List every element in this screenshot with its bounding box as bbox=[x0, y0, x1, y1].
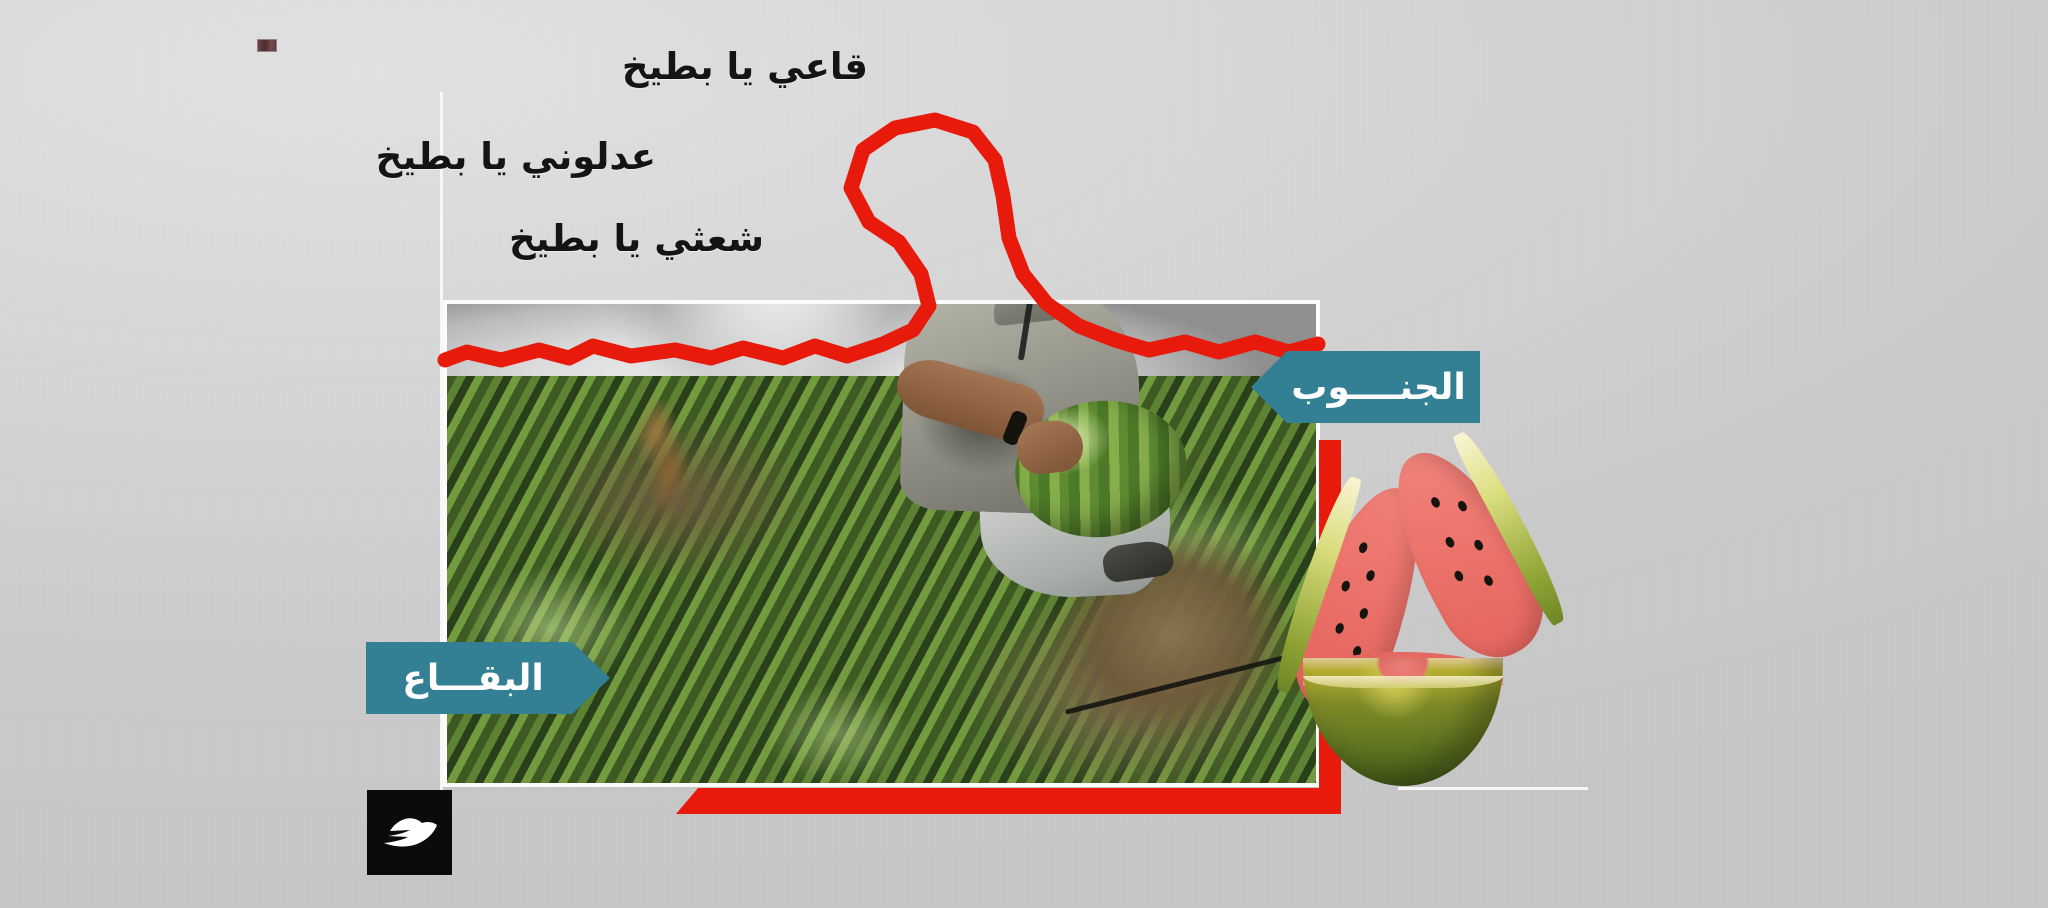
seed bbox=[1365, 569, 1376, 582]
daraj-logo[interactable] bbox=[367, 790, 452, 875]
seed bbox=[1340, 580, 1351, 593]
seed bbox=[1334, 622, 1345, 635]
headline-line-3: شعثي يا بطيخ bbox=[228, 220, 764, 257]
seed bbox=[1444, 536, 1456, 549]
headline-line-1: قاعي يا بطيخ bbox=[228, 48, 868, 85]
red-frame-bottom bbox=[676, 788, 1341, 814]
collage-canvas: قاعي يا بطيخ عدلوني يا بطيخ شعثي يا بطيخ bbox=[0, 0, 2048, 908]
seed bbox=[1429, 496, 1441, 509]
region-badge-south[interactable]: الجنــــوب bbox=[1251, 351, 1480, 423]
farmer-figure bbox=[867, 300, 1167, 699]
photo-frame bbox=[443, 300, 1320, 787]
field-photo bbox=[443, 300, 1320, 787]
half-melon-rind bbox=[1303, 676, 1503, 688]
seed bbox=[1453, 569, 1465, 582]
seed bbox=[1358, 607, 1369, 620]
region-badge-south-label: الجنــــوب bbox=[1291, 367, 1465, 408]
region-badge-bekaa-label: البقـــاع bbox=[402, 658, 544, 699]
horizontal-rule bbox=[1398, 787, 1588, 790]
headline-line-2: عدلوني يا بطيخ bbox=[228, 138, 656, 175]
region-badge-bekaa[interactable]: البقـــاع bbox=[366, 642, 610, 714]
headline-block: قاعي يا بطيخ عدلوني يا بطيخ شعثي يا بطيخ bbox=[228, 48, 868, 257]
seed bbox=[1473, 538, 1485, 551]
bird-icon bbox=[380, 813, 440, 853]
seed bbox=[1456, 499, 1468, 512]
seed bbox=[1358, 541, 1369, 554]
seed bbox=[1482, 574, 1494, 587]
